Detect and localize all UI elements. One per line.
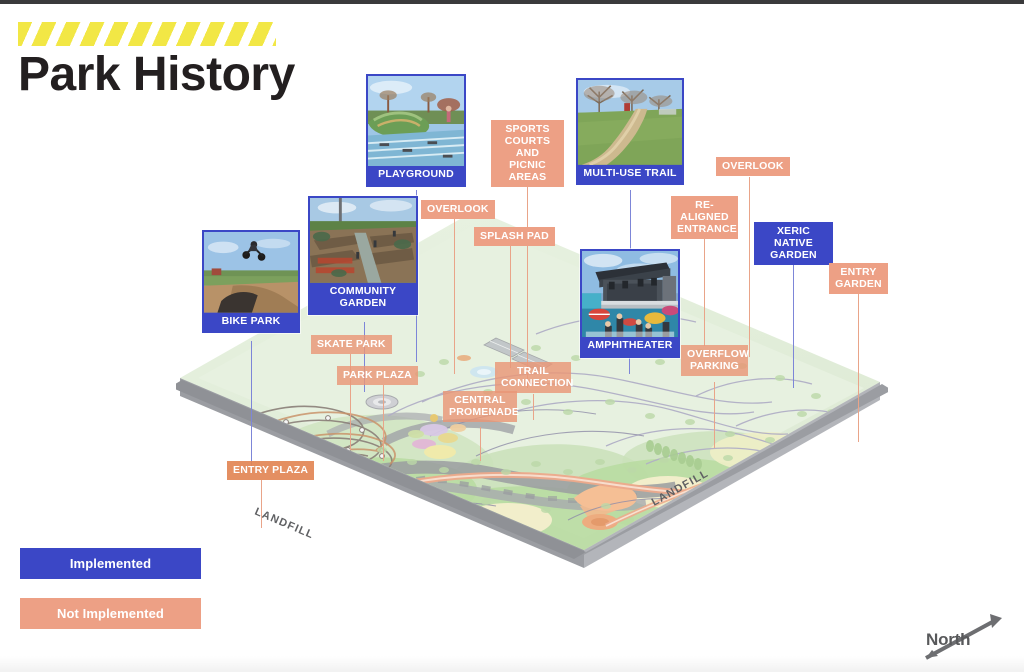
yellow-hash-accent — [18, 22, 276, 46]
label-entry-plaza[interactable]: ENTRY PLAZA — [227, 461, 314, 480]
leader-entry-garden — [858, 290, 859, 442]
label-sports-courts-picnic[interactable]: SPORTS COURTS AND PICNIC AREAS — [491, 120, 564, 187]
label-trail-connection[interactable]: TRAIL CONNECTION — [495, 362, 571, 393]
north-label: North — [926, 630, 970, 650]
leader-sports-courts — [527, 170, 528, 388]
label-overlook-left[interactable]: OVERLOOK — [421, 200, 495, 219]
photo-caption: AMPHITHEATER — [582, 337, 678, 356]
photo-card-bike-park[interactable]: BIKE PARK — [202, 230, 300, 333]
leader-overlook-left — [454, 219, 455, 374]
slide-canvas: Park History — [0, 0, 1024, 672]
amphitheater-photo — [582, 251, 678, 337]
page-title: Park History — [18, 50, 295, 100]
slide-bottom-shadow — [0, 656, 1024, 672]
legend-item-not-implemented[interactable]: Not Implemented — [20, 598, 201, 629]
leader-splash-pad — [510, 246, 511, 368]
leader-xeric-native-garden — [793, 250, 794, 388]
leader-re-aligned-entrance — [704, 224, 705, 346]
label-central-promenade[interactable]: CENTRAL PROMENADE — [443, 391, 517, 422]
label-overflow-parking[interactable]: OVERFLOW PARKING — [681, 345, 748, 376]
landfill-label-left: LANDFILL — [253, 506, 316, 542]
bike-park-photo — [204, 232, 298, 313]
photo-card-multi-use-trail[interactable]: MULTI-USE TRAIL — [576, 78, 684, 185]
leader-bike-park — [251, 341, 252, 466]
leader-overlook-right — [749, 177, 750, 357]
photo-card-community-garden[interactable]: COMMUNITY GARDEN — [308, 196, 418, 315]
label-overlook-right[interactable]: OVERLOOK — [716, 157, 790, 176]
title-block: Park History — [18, 22, 295, 100]
label-entry-garden[interactable]: ENTRY GARDEN — [829, 263, 888, 294]
photo-card-playground[interactable]: PLAYGROUND — [366, 74, 466, 187]
community-garden-photo — [310, 198, 416, 283]
photo-caption: COMMUNITY GARDEN — [310, 283, 416, 314]
label-park-plaza[interactable]: PARK PLAZA — [337, 366, 418, 385]
leader-overflow-parking — [714, 382, 715, 448]
photo-caption: BIKE PARK — [204, 313, 298, 332]
photo-caption: MULTI-USE TRAIL — [578, 165, 682, 184]
label-skate-park[interactable]: SKATE PARK — [311, 335, 392, 354]
label-re-aligned-entrance[interactable]: RE-ALIGNED ENTRANCE — [671, 196, 738, 239]
slide-top-edge — [0, 0, 1024, 4]
leader-entry-plaza — [261, 480, 262, 528]
label-splash-pad[interactable]: SPLASH PAD — [474, 227, 555, 246]
multi-use-trail-photo — [578, 80, 682, 165]
leader-trail-connection — [533, 394, 534, 420]
photo-caption: PLAYGROUND — [368, 166, 464, 185]
leader-park-plaza — [383, 385, 384, 461]
legend-item-implemented[interactable]: Implemented — [20, 548, 201, 579]
legend: Implemented Not Implemented — [20, 548, 201, 629]
label-xeric-native-garden[interactable]: XERIC NATIVE GARDEN — [754, 222, 833, 265]
leader-central-promenade — [480, 427, 481, 461]
photo-card-amphitheater[interactable]: AMPHITHEATER — [580, 249, 680, 358]
playground-photo — [368, 76, 464, 166]
